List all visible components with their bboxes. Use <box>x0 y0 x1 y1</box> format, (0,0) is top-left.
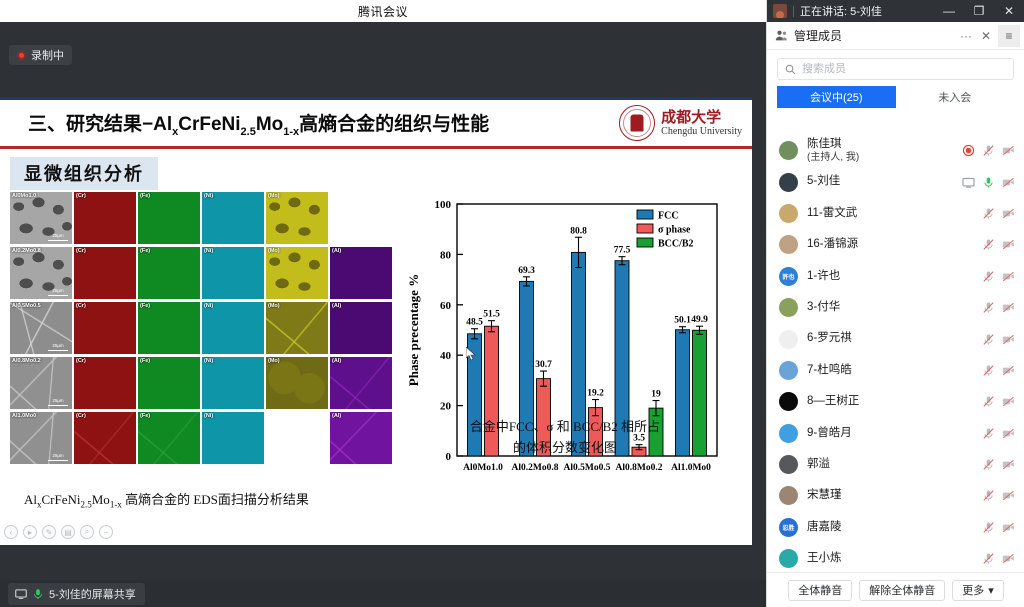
y-tick-label: 100 <box>435 199 452 211</box>
mic-muted-icon[interactable] <box>982 270 995 283</box>
mic-muted-icon[interactable] <box>982 521 995 534</box>
eds-row: Al0.8Mo0.225μm(Cr)(Fe)(Ni)(Mo)(Al) <box>10 357 400 409</box>
eds-sample-label: Al0.5Mo0.5 <box>12 303 41 309</box>
chart-caption-line-1: 合金中FCC、σ 和 BCC/B2 相所占 <box>405 417 725 438</box>
eds-element-map: (Fe) <box>138 302 200 354</box>
eds-element-label: (Fe) <box>140 193 150 199</box>
mic-muted-icon[interactable] <box>982 144 995 157</box>
y-axis-label: Phase precentage % <box>406 274 421 386</box>
participant-row[interactable]: 16-潘锦源 <box>767 229 1024 260</box>
more-options-label: 更多 <box>962 582 984 598</box>
zoom-icon[interactable]: ⌕ <box>80 525 94 539</box>
mic-muted-icon[interactable] <box>982 427 995 440</box>
eds-sample-label: Al0.8Mo0.2 <box>12 358 41 364</box>
sharing-screen-icon <box>962 176 975 189</box>
recording-label: 录制中 <box>31 47 64 63</box>
participant-name: 8—王树正 <box>807 395 982 408</box>
legend-label: BCC/B2 <box>658 239 694 250</box>
mic-muted-icon[interactable] <box>982 395 995 408</box>
eds-element-label: (Fe) <box>140 413 150 419</box>
panel-footer: 全体静音 解除全体静音 更多 ▾ <box>767 572 1024 607</box>
more-options-button[interactable]: 更多 ▾ <box>952 580 1004 601</box>
play-icon[interactable]: ▸ <box>23 525 37 539</box>
bar-value-label: 50.1 <box>674 316 691 326</box>
legend-swatch <box>637 224 653 233</box>
lock-icon[interactable]: ▤ <box>61 525 75 539</box>
participant-name: 3-付华 <box>807 301 982 314</box>
participant-role: (主持人, 我) <box>807 152 962 164</box>
eds-element-label: (Cr) <box>76 413 86 419</box>
university-seal-icon <box>619 105 655 141</box>
participant-row[interactable]: 王小炼 <box>767 543 1024 572</box>
search-container <box>767 50 1024 86</box>
eds-row: Al1.0Mo025μm(Cr)(Fe)(Ni)(Al) <box>10 412 400 464</box>
mic-on-icon[interactable] <box>982 176 995 189</box>
participants-panel: 正在讲话: 5-刘佳 — ❐ ✕ 管理成员 ··· ✕ ≡ 会议中(25)未入会 <box>766 0 1024 607</box>
camera-off-icon[interactable] <box>1002 521 1015 534</box>
speaker-avatar <box>773 4 787 18</box>
camera-off-icon[interactable] <box>1002 301 1015 314</box>
participant-status-icons[interactable] <box>962 176 1015 189</box>
x-tick-label: Al1.0Mo0 <box>671 463 711 473</box>
mic-muted-icon[interactable] <box>982 238 995 251</box>
app-titlebar: 腾讯会议 <box>0 0 766 22</box>
eds-element-label: (Ni) <box>204 303 213 309</box>
x-tick-label: Al0Mo1.0 <box>463 463 503 473</box>
chart-caption-line-2: 的体积分数变化图 <box>405 438 725 459</box>
bar-value-label: 80.8 <box>570 226 587 236</box>
participant-name: 16-潘锦源 <box>807 238 982 251</box>
eds-element-label: (Ni) <box>204 413 213 419</box>
eds-element-label: (Mo) <box>268 248 280 254</box>
recording-icon <box>962 144 975 157</box>
participant-status-icons[interactable] <box>982 207 1015 220</box>
mic-muted-icon[interactable] <box>982 489 995 502</box>
participant-status-icons[interactable] <box>982 395 1015 408</box>
scale-bar: 25μm <box>48 399 68 406</box>
x-tick-label: Al0.8Mo0.2 <box>616 463 663 473</box>
participant-row[interactable]: 6-罗元祺 <box>767 323 1024 354</box>
slide-divider-rule <box>0 146 752 149</box>
panel-more-button[interactable]: ··· <box>956 25 976 47</box>
titlebar-divider <box>793 6 794 17</box>
participant-row[interactable]: 8—王树正 <box>767 386 1024 417</box>
eds-sample-label: Al1.0Mo0 <box>12 413 36 419</box>
participant-name: 陈佳琪(主持人, 我) <box>807 138 962 163</box>
search-icon <box>785 64 796 75</box>
eds-element-label: (Al) <box>332 358 341 364</box>
y-tick-label: 60 <box>440 300 452 312</box>
camera-off-icon[interactable] <box>1002 395 1015 408</box>
search-box[interactable] <box>777 58 1014 80</box>
participant-tabs[interactable]: 会议中(25)未入会 <box>767 86 1024 108</box>
panel-title: 管理成员 <box>794 27 956 44</box>
eds-element-map: (Al) <box>330 357 392 409</box>
eds-sem-image: Al0Mo1.025μm <box>10 192 72 244</box>
ppt-mini-toolbar[interactable]: ‹ ▸ ✎ ▤ ⌕ − <box>4 525 113 539</box>
bar-value-label: 48.5 <box>466 318 483 328</box>
camera-off-icon[interactable] <box>1002 270 1015 283</box>
eds-element-label: (Al) <box>332 413 341 419</box>
eds-sample-label: Al0.2Mo0.8 <box>12 248 41 254</box>
participant-name: 6-罗元祺 <box>807 332 982 345</box>
eds-sem-image: Al0.8Mo0.225μm <box>10 357 72 409</box>
participant-row[interactable]: 忍胜唐嘉陵 <box>767 512 1024 543</box>
pen-icon[interactable]: ✎ <box>42 525 56 539</box>
search-input[interactable] <box>802 63 1006 75</box>
eds-element-label: (Fe) <box>140 358 150 364</box>
eds-element-label: (Ni) <box>204 358 213 364</box>
eds-sem-image: Al1.0Mo025μm <box>10 412 72 464</box>
mic-muted-icon[interactable] <box>982 458 995 471</box>
eds-row: Al0Mo1.025μm(Cr)(Fe)(Ni)(Mo) <box>10 192 400 244</box>
participant-status-icons[interactable] <box>982 364 1015 377</box>
bar-value-label: 30.7 <box>535 360 552 370</box>
eds-element-label: (Fe) <box>140 303 150 309</box>
bar-value-label: 69.3 <box>518 266 535 276</box>
eds-sem-image: Al0.5Mo0.525μm <box>10 302 72 354</box>
eds-element-map: (Mo) <box>266 302 328 354</box>
eds-element-map: (Al) <box>330 302 392 354</box>
x-tick-label: Al0.5Mo0.5 <box>564 463 611 473</box>
participant-row[interactable]: 3-付华 <box>767 292 1024 323</box>
bar-value-label: 77.5 <box>614 246 631 256</box>
legend-label: FCC <box>658 211 679 222</box>
avatar <box>779 204 798 223</box>
participant-status-icons[interactable] <box>962 144 1015 157</box>
camera-off-icon[interactable] <box>1002 333 1015 346</box>
unmute-all-button[interactable]: 解除全体静音 <box>859 580 945 601</box>
eds-element-map: (Ni) <box>202 302 264 354</box>
avatar <box>779 424 798 443</box>
slide-title-bar: 三、研究结果−AlxCrFeNi2.5Mo1-x高熵合金的组织与性能 成都大学 … <box>0 100 752 144</box>
avatar <box>779 173 798 192</box>
camera-off-icon[interactable] <box>1002 144 1015 157</box>
eds-element-map: (Ni) <box>202 412 264 464</box>
active-speaker-label: 正在讲话: 5-刘佳 <box>800 3 882 19</box>
eds-element-label: (Mo) <box>268 303 280 309</box>
participant-status-icons[interactable] <box>982 521 1015 534</box>
y-tick-label: 40 <box>440 350 452 362</box>
legend-label: σ phase <box>658 225 691 236</box>
eds-caption: AlxCrFeNi2.5Mo1-x 高熵合金的 EDS面扫描分析结果 <box>24 489 309 510</box>
participant-name: 王小炼 <box>807 552 982 565</box>
eds-element-map: (Mo) <box>266 247 328 299</box>
mute-all-button[interactable]: 全体静音 <box>788 580 852 601</box>
participant-row[interactable]: 5-刘佳 <box>767 166 1024 197</box>
eds-element-map: (Fe) <box>138 357 200 409</box>
screen-share-stage: 录制中 三、研究结果−AlxCrFeNi2.5Mo1-x高熵合金的组织与性能 成… <box>0 22 766 580</box>
panel-close-button[interactable]: ✕ <box>976 25 996 47</box>
participant-status-icons[interactable] <box>982 489 1015 502</box>
university-name-cn: 成都大学 <box>661 109 742 126</box>
participant-status-icons[interactable] <box>982 270 1015 283</box>
eds-element-map: (Ni) <box>202 357 264 409</box>
scale-bar: 25μm <box>48 454 68 461</box>
eds-sem-image: Al0.2Mo0.825μm <box>10 247 72 299</box>
university-logo: 成都大学 Chengdu University <box>619 105 742 141</box>
mic-muted-icon[interactable] <box>982 301 995 314</box>
bar-value-label: 19.2 <box>587 389 604 399</box>
slide-title: 三、研究结果−AlxCrFeNi2.5Mo1-x高熵合金的组织与性能 <box>28 109 489 138</box>
eds-element-map: (Cr) <box>74 357 136 409</box>
mic-muted-icon[interactable] <box>982 207 995 220</box>
scale-bar: 25μm <box>48 234 68 241</box>
eds-sample-label: Al0Mo1.0 <box>12 193 36 199</box>
mic-muted-icon[interactable] <box>982 364 995 377</box>
window-controls[interactable]: — ❐ ✕ <box>934 0 1024 22</box>
participant-row[interactable]: 郭溢 <box>767 449 1024 480</box>
bar-value-label: 51.5 <box>483 310 500 320</box>
eds-row: Al0.5Mo0.525μm(Cr)(Fe)(Ni)(Mo)(Al) <box>10 302 400 354</box>
camera-off-icon[interactable] <box>1002 238 1015 251</box>
participant-status-icons[interactable] <box>982 427 1015 440</box>
participant-row[interactable]: 許也1-许也 <box>767 261 1024 292</box>
eds-element-map: (Mo) <box>266 357 328 409</box>
camera-off-icon[interactable] <box>1002 364 1015 377</box>
eds-element-label: (Cr) <box>76 303 86 309</box>
app-window-title: 腾讯会议 <box>358 3 408 20</box>
minus-icon[interactable]: − <box>99 525 113 539</box>
eds-empty-cell <box>266 412 328 464</box>
eds-element-map: (Cr) <box>74 302 136 354</box>
participant-name: 7-杜鸣皓 <box>807 364 982 377</box>
maximize-button[interactable]: ❐ <box>964 0 994 22</box>
chevron-down-icon: ▾ <box>988 584 994 597</box>
participant-name: 5-刘佳 <box>807 175 962 188</box>
mouse-cursor <box>466 347 476 361</box>
close-button[interactable]: ✕ <box>994 0 1024 22</box>
share-status-text: 5-刘佳的屏幕共享 <box>49 586 136 602</box>
participant-name: 11-雷文武 <box>807 207 982 220</box>
camera-off-icon[interactable] <box>1002 207 1015 220</box>
eds-element-map: (Mo) <box>266 192 328 244</box>
avatar <box>779 486 798 505</box>
avatar <box>779 298 798 317</box>
scale-bar: 25μm <box>48 344 68 351</box>
eds-element-map: (Cr) <box>74 247 136 299</box>
avatar <box>779 392 798 411</box>
eds-element-map: (Al) <box>330 412 392 464</box>
y-tick-label: 20 <box>440 401 452 413</box>
legend-swatch <box>637 210 653 219</box>
participant-status-icons[interactable] <box>982 552 1015 565</box>
camera-off-icon[interactable] <box>1002 458 1015 471</box>
panel-header: 管理成员 ··· ✕ ≡ <box>767 22 1024 50</box>
participant-list[interactable]: 陈佳琪(主持人, 我)5-刘佳11-雷文武16-潘锦源許也1-许也3-付华6-罗… <box>767 135 1024 572</box>
back-icon[interactable]: ‹ <box>4 525 18 539</box>
eds-element-map: (Cr) <box>74 192 136 244</box>
eds-element-label: (Fe) <box>140 248 150 254</box>
eds-row: Al0.2Mo0.825μm(Cr)(Fe)(Ni)(Mo)(Al) <box>10 247 400 299</box>
eds-element-label: (Al) <box>332 303 341 309</box>
participant-row[interactable]: 宋慧瑾 <box>767 480 1024 511</box>
eds-element-label: (Mo) <box>268 358 280 364</box>
participant-status-icons[interactable] <box>982 238 1015 251</box>
active-speaker-indicator: 正在讲话: 5-刘佳 <box>773 3 882 19</box>
university-name-en: Chengdu University <box>661 126 742 137</box>
eds-element-label: (Mo) <box>268 193 280 199</box>
participant-row[interactable]: 陈佳琪(主持人, 我) <box>767 135 1024 166</box>
people-icon <box>775 29 788 42</box>
x-tick-label: Al0.2Mo0.8 <box>512 463 559 473</box>
participant-name: 郭溢 <box>807 458 982 471</box>
participant-row[interactable]: 9-曾皓月 <box>767 418 1024 449</box>
section-heading: 显微组织分析 <box>10 157 158 190</box>
share-status-pill: 5-刘佳的屏幕共享 <box>8 583 145 605</box>
participant-name: 1-许也 <box>807 270 982 283</box>
mic-muted-icon[interactable] <box>982 333 995 346</box>
avatar: 忍胜 <box>779 518 798 537</box>
avatar <box>779 549 798 568</box>
participant-row[interactable]: 11-雷文武 <box>767 198 1024 229</box>
bar-value-label: 49.9 <box>691 315 708 325</box>
avatar: 許也 <box>779 267 798 286</box>
recording-indicator: 录制中 <box>9 45 72 65</box>
presentation-slide: 三、研究结果−AlxCrFeNi2.5Mo1-x高熵合金的组织与性能 成都大学 … <box>0 97 752 545</box>
eds-element-map: (Al) <box>330 247 392 299</box>
panel-menu-button[interactable]: ≡ <box>998 25 1020 47</box>
eds-element-map: (Fe) <box>138 247 200 299</box>
mic-muted-icon[interactable] <box>982 552 995 565</box>
minimize-button[interactable]: — <box>934 0 964 22</box>
eds-element-map: (Ni) <box>202 192 264 244</box>
avatar <box>779 361 798 380</box>
y-tick-label: 80 <box>440 249 452 261</box>
eds-empty-cell <box>330 192 392 244</box>
avatar <box>779 141 798 160</box>
eds-element-label: (Cr) <box>76 193 86 199</box>
scale-bar: 25μm <box>48 289 68 296</box>
share-status-bar: 5-刘佳的屏幕共享 <box>0 580 766 607</box>
legend-swatch <box>637 238 653 247</box>
eds-element-map: (Cr) <box>74 412 136 464</box>
avatar <box>779 235 798 254</box>
participant-name: 宋慧瑾 <box>807 489 982 502</box>
participant-name: 9-曾皓月 <box>807 427 982 440</box>
bar-value-label: 19 <box>651 390 661 400</box>
participant-status-icons[interactable] <box>982 301 1015 314</box>
panel-window-titlebar: 正在讲话: 5-刘佳 — ❐ ✕ <box>767 0 1024 22</box>
camera-off-icon[interactable] <box>1002 176 1015 189</box>
tab-not-joined[interactable]: 未入会 <box>896 86 1015 108</box>
microphone-icon <box>32 588 44 600</box>
camera-off-icon[interactable] <box>1002 427 1015 440</box>
screen-share-icon <box>15 588 27 600</box>
participant-status-icons[interactable] <box>982 333 1015 346</box>
eds-element-label: (Al) <box>332 248 341 254</box>
eds-element-map: (Fe) <box>138 412 200 464</box>
eds-element-map: (Fe) <box>138 192 200 244</box>
participant-row[interactable]: 7-杜鸣皓 <box>767 355 1024 386</box>
camera-off-icon[interactable] <box>1002 489 1015 502</box>
eds-element-label: (Cr) <box>76 358 86 364</box>
camera-off-icon[interactable] <box>1002 552 1015 565</box>
eds-image-grid: Al0Mo1.025μm(Cr)(Fe)(Ni)(Mo)Al0.2Mo0.825… <box>10 192 400 467</box>
chart-caption: 合金中FCC、σ 和 BCC/B2 相所占 的体积分数变化图 <box>405 417 725 459</box>
record-dot-icon <box>17 51 26 60</box>
participant-name: 唐嘉陵 <box>807 521 982 534</box>
eds-element-map: (Ni) <box>202 247 264 299</box>
avatar <box>779 455 798 474</box>
eds-element-label: (Ni) <box>204 193 213 199</box>
tab-in-meeting[interactable]: 会议中(25) <box>777 86 896 108</box>
participant-status-icons[interactable] <box>982 458 1015 471</box>
eds-element-label: (Cr) <box>76 248 86 254</box>
eds-element-label: (Ni) <box>204 248 213 254</box>
avatar <box>779 330 798 349</box>
